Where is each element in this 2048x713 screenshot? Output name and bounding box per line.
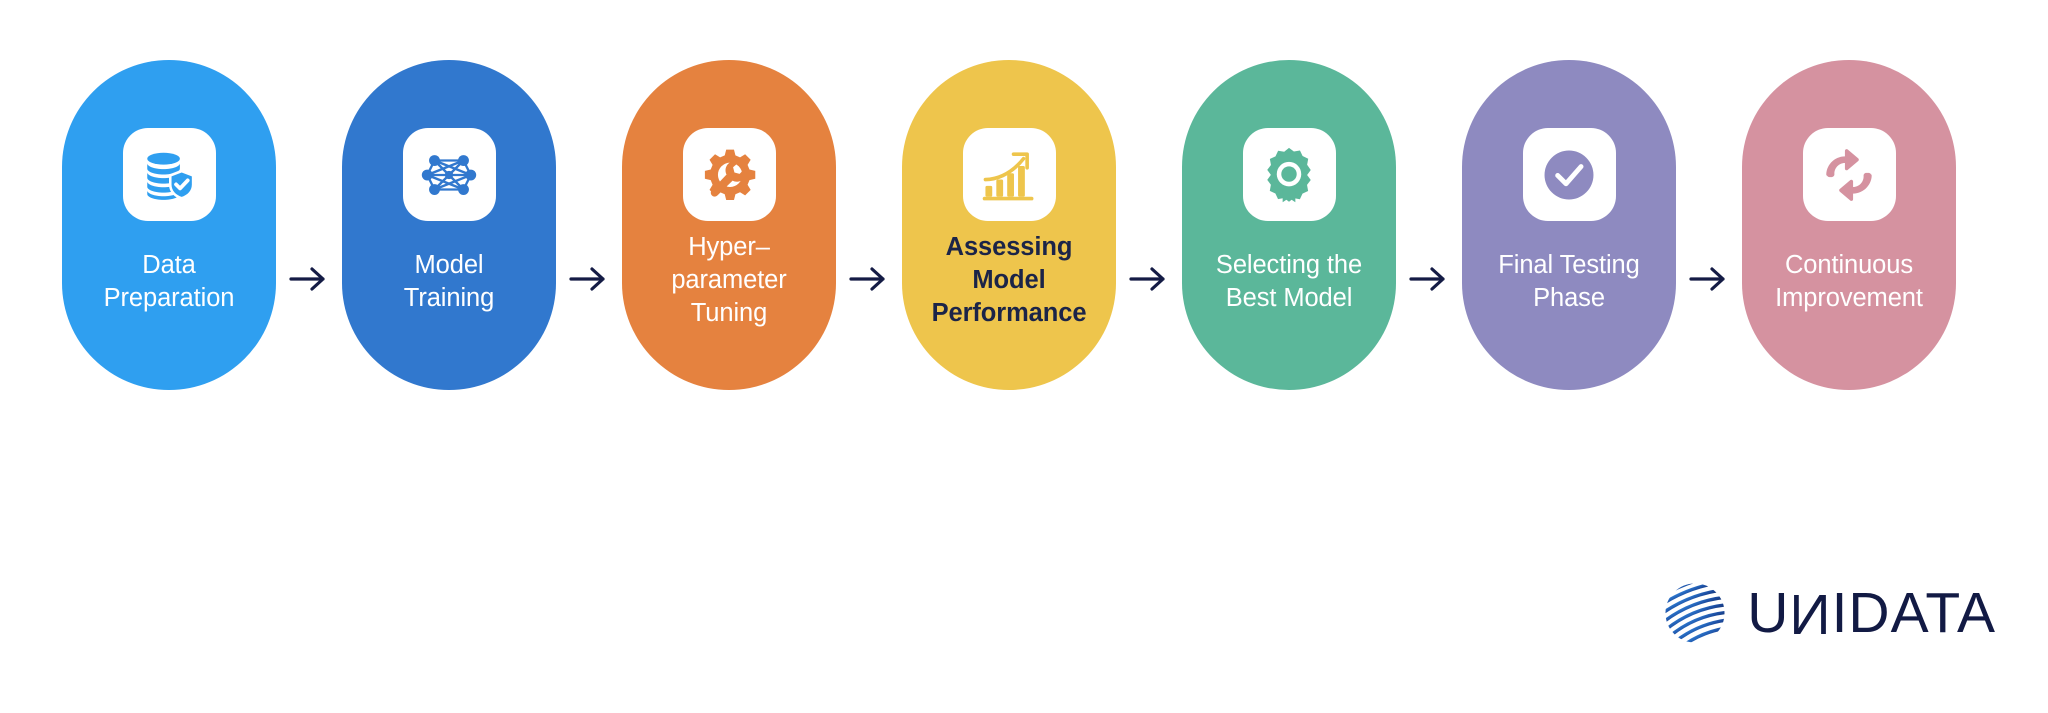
flow-arrow-6 [1676, 265, 1742, 293]
flow-arrow-5 [1396, 265, 1462, 293]
workflow-flow: Data Preparation [62, 60, 1956, 390]
icon-tile-hyperparameter-tuning [683, 128, 776, 221]
workflow-step-label: Hyper– parameter Tuning [630, 231, 828, 330]
icon-tile-data-preparation [123, 128, 216, 221]
unidata-logo: UNIDATA [1661, 579, 1996, 647]
neural-network-icon [420, 146, 478, 204]
check-circle-icon [1540, 146, 1598, 204]
flow-arrow-2 [556, 265, 622, 293]
workflow-step-continuous-improvement[interactable]: Continuous Improvement [1742, 60, 1956, 390]
workflow-step-label: Continuous Improvement [1750, 249, 1948, 315]
database-shield-check-icon [140, 146, 198, 204]
workflow-step-label: Data Preparation [70, 249, 268, 315]
flow-arrow-1 [276, 265, 342, 293]
workflow-step-selecting-best-model[interactable]: Selecting the Best Model [1182, 60, 1396, 390]
flow-arrow-3 [836, 265, 902, 293]
workflow-step-hyperparameter-tuning[interactable]: Hyper– parameter Tuning [622, 60, 836, 390]
flow-arrow-4 [1116, 265, 1182, 293]
striped-globe-icon [1661, 579, 1729, 647]
workflow-step-label: Assessing Model Performance [910, 231, 1108, 330]
icon-tile-final-testing-phase [1523, 128, 1616, 221]
workflow-step-label: Model Training [350, 249, 548, 315]
workflow-step-label: Final Testing Phase [1470, 249, 1668, 315]
award-rosette-icon [1260, 146, 1318, 204]
icon-tile-continuous-improvement [1803, 128, 1896, 221]
workflow-step-final-testing-phase[interactable]: Final Testing Phase [1462, 60, 1676, 390]
workflow-step-data-preparation[interactable]: Data Preparation [62, 60, 276, 390]
refresh-cycle-icon [1820, 146, 1878, 204]
unidata-wordmark: UNIDATA [1747, 585, 1996, 642]
icon-tile-assessing-model-performance [963, 128, 1056, 221]
logo-word-part-3: IDATA [1832, 585, 1996, 642]
icon-tile-model-training [403, 128, 496, 221]
logo-word-part-1: U [1747, 585, 1789, 642]
gear-wrench-icon [700, 146, 758, 204]
workflow-step-assessing-model-performance[interactable]: Assessing Model Performance [902, 60, 1116, 390]
diagram-canvas: Data Preparation [0, 0, 2048, 713]
icon-tile-selecting-best-model [1243, 128, 1336, 221]
workflow-step-model-training[interactable]: Model Training [342, 60, 556, 390]
logo-word-part-2: N [1789, 585, 1831, 642]
growth-bar-chart-icon [980, 146, 1038, 204]
workflow-step-label: Selecting the Best Model [1190, 249, 1388, 315]
